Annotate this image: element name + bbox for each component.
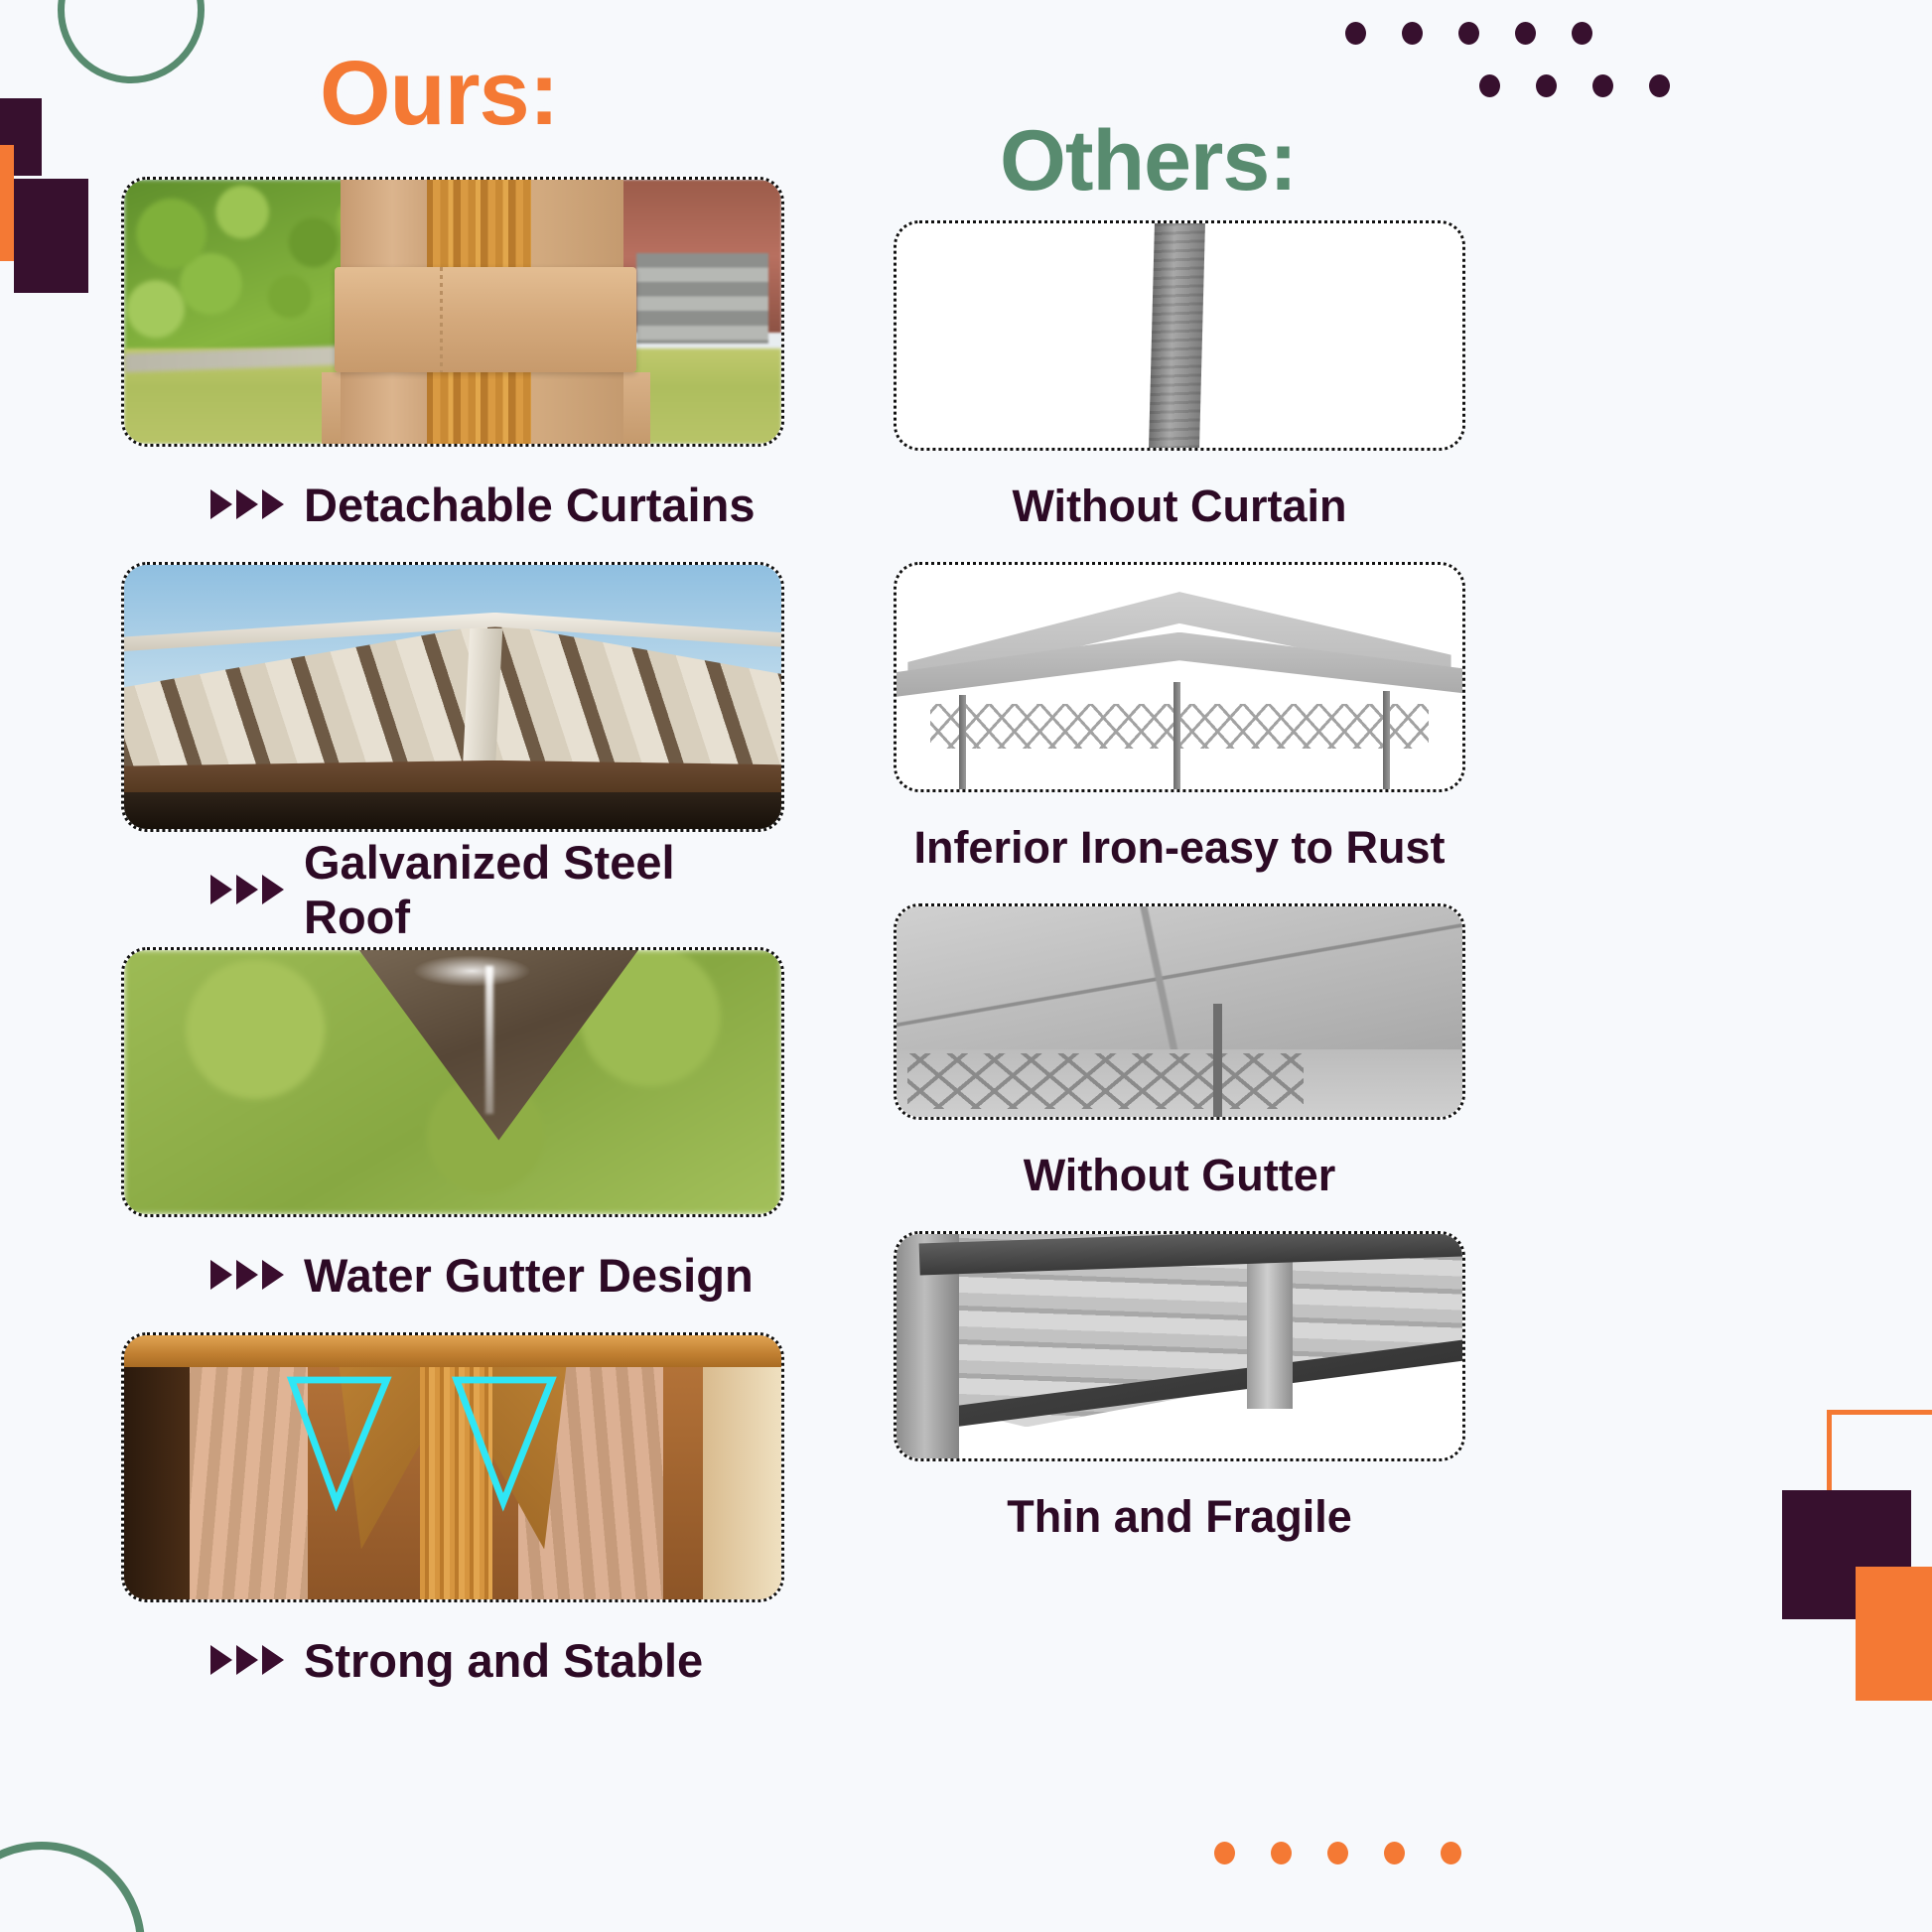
decorative-square-bottom-right-purple (1782, 1490, 1911, 1619)
decorative-square-bottom-right-orange (1856, 1567, 1932, 1701)
ours-caption-4: Strong and Stable (121, 1602, 784, 1718)
decorative-square-top-left-purple-a (0, 98, 42, 176)
decorative-circle-top-left (58, 0, 205, 83)
ours-image-card-galvanized-steel-roof (121, 562, 784, 832)
ours-caption-1-text: Detachable Curtains (304, 478, 755, 532)
others-feature-2: Inferior Iron-easy to Rust (894, 562, 1465, 903)
ours-feature-1: Detachable Curtains (121, 177, 784, 562)
others-caption-2: Inferior Iron-easy to Rust (894, 792, 1465, 903)
others-column: Without Curtain Inferior Iron-easy to Ru… (894, 220, 1465, 1573)
others-feature-3: Without Gutter (894, 903, 1465, 1231)
page-title-ours: Ours: (320, 42, 558, 146)
others-caption-1-text: Without Curtain (1012, 481, 1346, 532)
ours-column: Detachable Curtains Galvanized Steel Roo… (121, 177, 784, 1718)
cyan-triangle-highlight-overlay (124, 1335, 781, 1599)
ours-caption-1: Detachable Curtains (121, 447, 784, 562)
ours-caption-2-text: Galvanized Steel Roof (304, 835, 784, 944)
ours-feature-4: Strong and Stable (121, 1332, 784, 1718)
decorative-square-top-left-purple-b (14, 179, 88, 293)
others-caption-4: Thin and Fragile (894, 1461, 1465, 1573)
ours-image-card-water-gutter-design (121, 947, 784, 1217)
triple-arrow-icon (210, 875, 284, 904)
others-caption-4-text: Thin and Fragile (1007, 1491, 1352, 1543)
decorative-corner-bracket-bottom-right (1827, 1410, 1932, 1559)
ours-caption-2: Galvanized Steel Roof (121, 832, 784, 947)
others-image-card-without-gutter (894, 903, 1465, 1120)
ours-caption-3-text: Water Gutter Design (304, 1248, 754, 1303)
others-feature-4: Thin and Fragile (894, 1231, 1465, 1573)
others-caption-2-text: Inferior Iron-easy to Rust (913, 822, 1445, 874)
others-feature-1: Without Curtain (894, 220, 1465, 562)
triple-arrow-icon (210, 489, 284, 519)
others-caption-3-text: Without Gutter (1024, 1150, 1336, 1201)
decorative-dots-top-right-row1 (1345, 22, 1592, 45)
ours-image-card-detachable-curtains (121, 177, 784, 447)
ours-feature-2: Galvanized Steel Roof (121, 562, 784, 947)
decorative-square-top-left-orange (0, 145, 14, 261)
triple-arrow-icon (210, 1260, 284, 1290)
others-image-card-inferior-iron (894, 562, 1465, 792)
ours-caption-3: Water Gutter Design (121, 1217, 784, 1332)
others-caption-3: Without Gutter (894, 1120, 1465, 1231)
decorative-dots-bottom-right (1214, 1842, 1461, 1864)
decorative-circle-bottom-left (0, 1842, 145, 1932)
triple-arrow-icon (210, 1645, 284, 1675)
others-image-card-without-curtain (894, 220, 1465, 451)
page-title-others: Others: (1000, 112, 1297, 210)
ours-image-card-strong-and-stable (121, 1332, 784, 1602)
ours-caption-4-text: Strong and Stable (304, 1633, 703, 1688)
others-caption-1: Without Curtain (894, 451, 1465, 562)
others-image-card-thin-and-fragile (894, 1231, 1465, 1461)
decorative-dots-top-right-row2 (1479, 74, 1670, 97)
ours-feature-3: Water Gutter Design (121, 947, 784, 1332)
